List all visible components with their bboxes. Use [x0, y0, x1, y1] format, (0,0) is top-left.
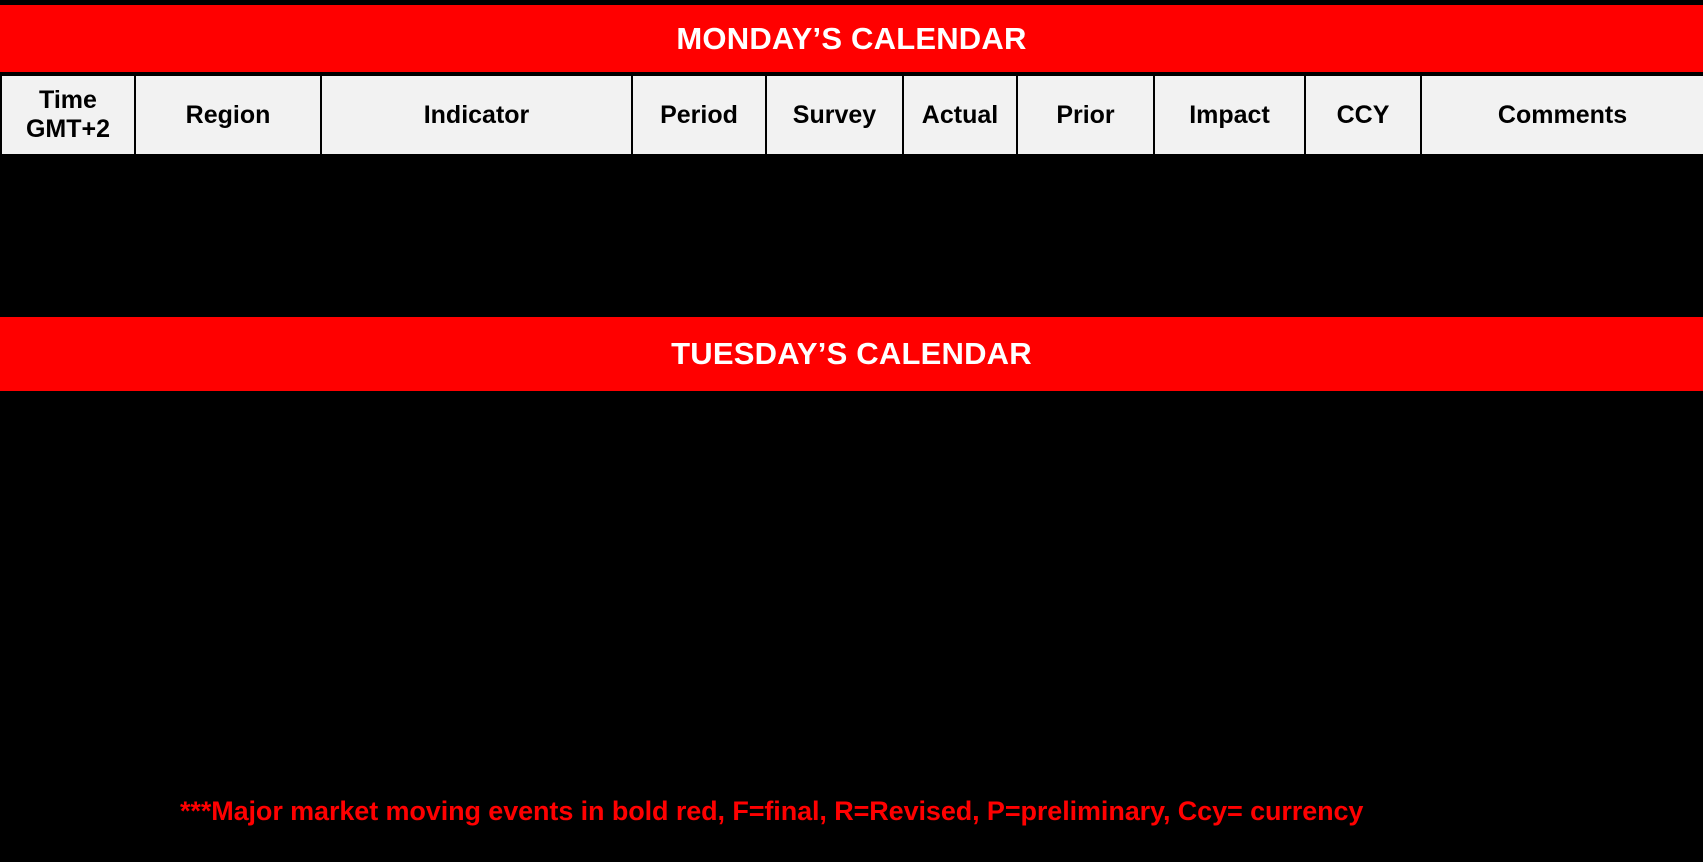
- column-header-actual: Actual: [904, 76, 1018, 154]
- monday-calendar-banner: MONDAY’S CALENDAR: [0, 3, 1703, 74]
- monday-calendar-title: MONDAY’S CALENDAR: [676, 21, 1026, 57]
- tuesday-calendar-banner: TUESDAY’S CALENDAR: [0, 315, 1703, 393]
- tuesday-calendar-body: [0, 393, 1703, 784]
- column-header-region: Region: [136, 76, 322, 154]
- column-header-survey: Survey: [767, 76, 904, 154]
- legend-footnote-text: ***Major market moving events in bold re…: [180, 796, 1363, 827]
- legend-footnote: ***Major market moving events in bold re…: [0, 786, 1703, 836]
- column-header-prior: Prior: [1018, 76, 1155, 154]
- column-header-comments: Comments: [1422, 76, 1703, 154]
- calendar-column-header-row: Time GMT+2 Region Indicator Period Surve…: [0, 76, 1703, 154]
- column-header-impact: Impact: [1155, 76, 1306, 154]
- column-header-time: Time GMT+2: [0, 76, 136, 154]
- tuesday-calendar-title: TUESDAY’S CALENDAR: [671, 336, 1032, 372]
- calendar-page: MONDAY’S CALENDAR Time GMT+2 Region Indi…: [0, 0, 1703, 862]
- column-header-ccy: CCY: [1306, 76, 1422, 154]
- monday-calendar-body: [0, 154, 1703, 315]
- column-header-indicator: Indicator: [322, 76, 633, 154]
- column-header-period: Period: [633, 76, 767, 154]
